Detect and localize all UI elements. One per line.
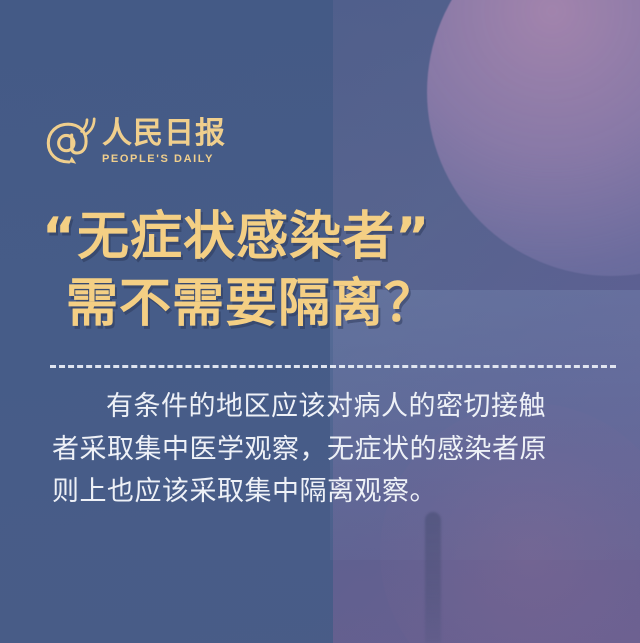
headline-line-1: “无症状感染者” (42, 204, 602, 271)
dashed-divider (50, 365, 616, 368)
at-sign-speech-bubble-icon (42, 117, 96, 171)
logo-text-block: 人民日报 PEOPLE'S DAILY (102, 118, 226, 165)
logo-chinese-name: 人民日报 (102, 118, 226, 150)
peoples-daily-logo: 人民日报 PEOPLE'S DAILY (42, 116, 226, 171)
headline-block: “无症状感染者” 需不需要隔离？ (42, 204, 602, 337)
logo-english-name: PEOPLE'S DAILY (102, 153, 214, 165)
body-line-2: 者采取集中医学观察，无症状的感染者原 (52, 429, 608, 472)
body-line-1: 有条件的地区应该对病人的密切接触 (52, 386, 608, 429)
poster-card: 人民日报 PEOPLE'S DAILY “无症状感染者” 需不需要隔离？ 有条件… (0, 0, 640, 643)
headline-line-2: 需不需要隔离？ (42, 271, 602, 338)
body-line-3: 则上也应该采取集中隔离观察。 (52, 471, 608, 514)
body-text-block: 有条件的地区应该对病人的密切接触 者采取集中医学观察，无症状的感染者原 则上也应… (52, 386, 608, 514)
